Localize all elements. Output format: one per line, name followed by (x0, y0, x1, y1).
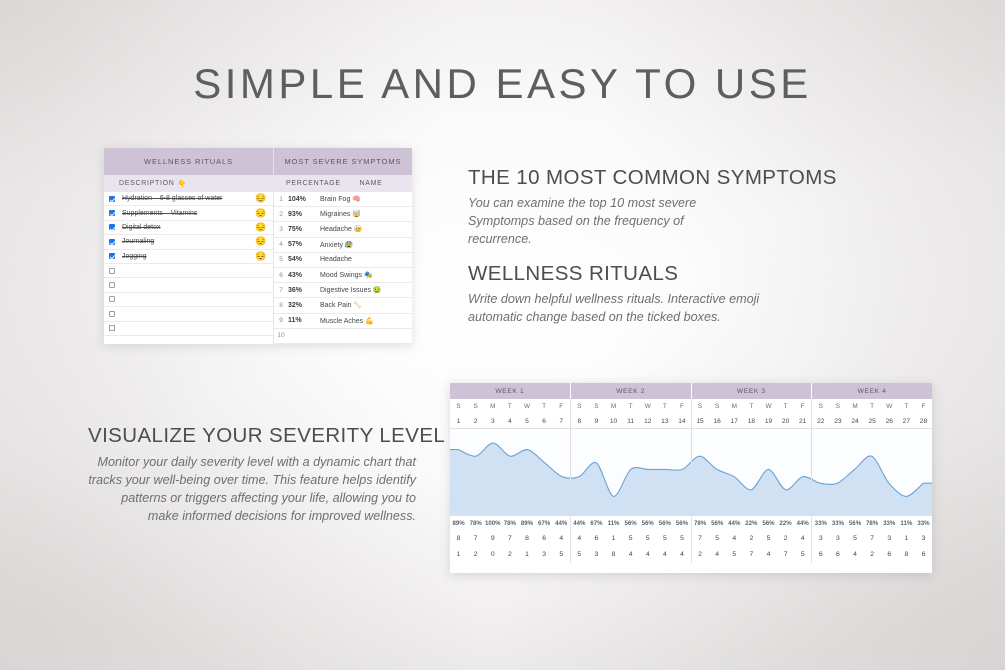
day-of-week-cell: S (829, 399, 846, 414)
week-column: 78%56%44%22%56%22%44% (692, 516, 813, 531)
rituals-body: Write down helpful wellness rituals. Int… (468, 291, 768, 327)
row-index: 10 (274, 332, 288, 339)
severity-area-chart (450, 429, 932, 515)
severity-percent-cell: 22% (777, 516, 794, 531)
name-column-label: NAME (336, 180, 412, 187)
row-index: 7 (274, 287, 288, 294)
week-column: 44%67%11%56%56%56%56% (571, 516, 692, 531)
value-cell-a: 4 (553, 531, 570, 547)
value-cell-a: 1 (898, 531, 915, 547)
checkbox-cell[interactable] (104, 224, 119, 230)
week-column: 891011121314 (571, 414, 692, 428)
day-of-month-cell: 26 (881, 414, 898, 428)
value-cell-b: 4 (709, 547, 726, 563)
table-row[interactable]: 736%Digestive Issues 🤢 (274, 283, 412, 298)
week-column: 5384444 (571, 547, 692, 563)
value-cell-a: 4 (571, 531, 588, 547)
checkbox-unchecked-icon[interactable] (109, 282, 115, 288)
day-of-week-cell: T (501, 399, 518, 414)
week-column: 3357313 (812, 531, 932, 547)
mood-emoji-icon: 😔 (249, 252, 273, 261)
symptom-percentage: 11% (288, 317, 318, 324)
severity-percent-cell: 78% (501, 516, 518, 531)
wellness-rituals-rows: Hydration – 6-8 glasses of water😔Supplem… (104, 192, 273, 336)
day-of-month-cell: 15 (692, 414, 709, 428)
checkbox-unchecked-icon[interactable] (109, 268, 115, 274)
value-cell-a: 3 (915, 531, 932, 547)
symptom-percentage: 57% (288, 241, 318, 248)
value-cell-b: 4 (760, 547, 777, 563)
value-cell-b: 5 (553, 547, 570, 563)
day-of-week-cell: M (484, 399, 501, 414)
checkbox-unchecked-icon[interactable] (109, 296, 115, 302)
checkbox-checked-icon[interactable] (109, 253, 115, 259)
mood-emoji-icon: 😔 (249, 209, 273, 218)
value-cell-b: 4 (656, 547, 673, 563)
day-of-month-cell: 14 (673, 414, 690, 428)
day-of-month-cell: 27 (898, 414, 915, 428)
symptoms-heading: THE 10 MOST COMMON SYMPTOMS (468, 166, 837, 190)
week-column: 8797864 (450, 531, 571, 547)
day-of-week-cell: F (673, 399, 690, 414)
week-label: WEEK 2 (571, 383, 692, 399)
checkbox-checked-icon[interactable] (109, 210, 115, 216)
symptom-name: Migraines 🤯 (318, 210, 412, 218)
day-of-week-cell: M (726, 399, 743, 414)
severity-percent-cell: 78% (692, 516, 709, 531)
chart-value-row-b: 1202135538444424574756642686 (450, 547, 932, 563)
severity-percent-cell: 67% (588, 516, 605, 531)
day-of-week-cell: T (864, 399, 881, 414)
table-row[interactable]: 457%Anxiety 😰 (274, 238, 412, 253)
text-block-severity: VISUALIZE YOUR SEVERITY LEVEL Monitor yo… (88, 424, 416, 526)
severity-percent-cell: 56% (622, 516, 639, 531)
day-of-week-cell: M (605, 399, 622, 414)
severity-percent-cell: 78% (864, 516, 881, 531)
day-of-month-cell: 21 (794, 414, 811, 428)
value-cell-b: 6 (829, 547, 846, 563)
most-severe-symptoms-title: MOST SEVERE SYMPTOMS (274, 148, 412, 175)
day-of-week-cell: T (536, 399, 553, 414)
day-of-week-cell: W (881, 399, 898, 414)
severity-percent-cell: 11% (898, 516, 915, 531)
value-cell-a: 7 (692, 531, 709, 547)
value-cell-b: 5 (571, 547, 588, 563)
row-index: 3 (274, 226, 288, 233)
day-of-month-cell: 20 (777, 414, 794, 428)
symptom-percentage: 54% (288, 256, 318, 263)
day-of-week-cell: T (622, 399, 639, 414)
table-row[interactable]: 1104%Brain Fog 🧠 (274, 192, 412, 207)
value-cell-a: 8 (518, 531, 535, 547)
value-cell-b: 2 (864, 547, 881, 563)
ritual-label[interactable]: Journaling (119, 238, 249, 245)
value-cell-b: 6 (881, 547, 898, 563)
ritual-label[interactable]: Hydration – 6-8 glasses of water (119, 195, 249, 202)
chart-week-header: WEEK 1WEEK 2WEEK 3WEEK 4 (450, 383, 932, 399)
value-cell-a: 6 (588, 531, 605, 547)
severity-percent-cell: 100% (484, 516, 501, 531)
severity-percent-cell: 33% (812, 516, 829, 531)
checkbox-checked-icon[interactable] (109, 196, 115, 202)
table-row[interactable] (104, 293, 273, 307)
symptom-percentage: 93% (288, 211, 318, 218)
symptom-percentage: 104% (288, 196, 318, 203)
checkbox-cell[interactable] (104, 296, 119, 302)
severity-percent-cell: 67% (536, 516, 553, 531)
day-of-month-cell: 7 (553, 414, 570, 428)
day-of-month-cell: 24 (846, 414, 863, 428)
severity-percent-cell: 11% (605, 516, 622, 531)
table-row[interactable]: Journaling😔 (104, 235, 273, 249)
severity-percent-cell: 44% (571, 516, 588, 531)
value-cell-a: 3 (829, 531, 846, 547)
severity-percent-cell: 44% (726, 516, 743, 531)
value-cell-b: 4 (673, 547, 690, 563)
symptom-percentage: 36% (288, 287, 318, 294)
day-of-week-cell: W (518, 399, 535, 414)
value-cell-a: 9 (484, 531, 501, 547)
page-title: SIMPLE AND EASY TO USE (0, 60, 1005, 108)
value-cell-a: 5 (639, 531, 656, 547)
checkbox-cell[interactable] (104, 282, 119, 288)
day-of-week-cell: T (656, 399, 673, 414)
week-label: WEEK 4 (812, 383, 932, 399)
chart-plot-area (450, 429, 932, 515)
value-cell-a: 7 (501, 531, 518, 547)
day-of-week-cell: W (760, 399, 777, 414)
symptom-name: Headache 🤕 (318, 225, 412, 233)
value-cell-a: 1 (605, 531, 622, 547)
symptom-name: Digestive Issues 🤢 (318, 286, 412, 294)
severity-percent-cell: 56% (673, 516, 690, 531)
severity-heading: VISUALIZE YOUR SEVERITY LEVEL (88, 424, 416, 448)
value-cell-a: 5 (846, 531, 863, 547)
value-cell-a: 2 (743, 531, 760, 547)
row-index: 8 (274, 302, 288, 309)
day-of-month-cell: 19 (760, 414, 777, 428)
value-cell-b: 4 (639, 547, 656, 563)
week-label: WEEK 1 (450, 383, 571, 399)
symptoms-rows: 1104%Brain Fog 🧠293%Migraines 🤯375%Heada… (274, 192, 412, 344)
tables-screenshot-card: WELLNESS RITUALS DESCRIPTION 👇 Hydration… (104, 148, 412, 344)
day-of-week-cell: T (898, 399, 915, 414)
checkbox-cell[interactable] (104, 268, 119, 274)
week-column: 15161718192021 (692, 414, 813, 428)
percentage-column-label: PERCENTAGE (274, 180, 336, 187)
severity-chart-card: WEEK 1WEEK 2WEEK 3WEEK 4 SSMTWTFSSMTWTFS… (450, 383, 932, 573)
most-severe-symptoms-table: MOST SEVERE SYMPTOMS PERCENTAGE NAME 110… (274, 148, 412, 344)
value-cell-a: 7 (864, 531, 881, 547)
symptom-percentage: 32% (288, 302, 318, 309)
value-cell-b: 8 (605, 547, 622, 563)
value-cell-b: 1 (518, 547, 535, 563)
row-index: 9 (274, 317, 288, 324)
row-index: 4 (274, 241, 288, 248)
day-of-week-cell: M (846, 399, 863, 414)
checkbox-cell[interactable] (104, 239, 119, 245)
ritual-label[interactable]: Digital detox (119, 224, 249, 231)
value-cell-a: 7 (467, 531, 484, 547)
table-row[interactable]: 832%Back Pain 🦴 (274, 298, 412, 313)
value-cell-b: 6 (915, 547, 932, 563)
day-of-week-cell: S (692, 399, 709, 414)
day-of-month-cell: 22 (812, 414, 829, 428)
table-row[interactable]: 293%Migraines 🤯 (274, 207, 412, 222)
week-column: 33%33%56%78%33%11%33% (812, 516, 932, 531)
day-of-month-cell: 25 (864, 414, 881, 428)
day-of-month-cell: 2 (467, 414, 484, 428)
checkbox-cell[interactable] (104, 196, 119, 202)
chart-value-row-a: 8797864461555575425243357313 (450, 531, 932, 547)
value-cell-b: 7 (743, 547, 760, 563)
severity-percent-cell: 56% (639, 516, 656, 531)
table-row[interactable]: Jogging😔 (104, 250, 273, 264)
day-of-week-cell: S (709, 399, 726, 414)
wellness-rituals-table: WELLNESS RITUALS DESCRIPTION 👇 Hydration… (104, 148, 274, 344)
day-of-month-cell: 10 (605, 414, 622, 428)
severity-percent-cell: 56% (760, 516, 777, 531)
day-of-month-cell: 18 (743, 414, 760, 428)
symptom-percentage: 75% (288, 226, 318, 233)
day-of-week-cell: W (639, 399, 656, 414)
wellness-rituals-title: WELLNESS RITUALS (104, 148, 273, 175)
text-block-top-symptoms: THE 10 MOST COMMON SYMPTOMS You can exam… (468, 166, 837, 249)
day-of-week-cell: S (467, 399, 484, 414)
symptom-name: Muscle Aches 💪 (318, 317, 412, 325)
checkbox-unchecked-icon[interactable] (109, 325, 115, 331)
symptom-name: Brain Fog 🧠 (318, 195, 412, 203)
row-index: 5 (274, 256, 288, 263)
severity-percent-cell: 89% (450, 516, 467, 531)
value-cell-b: 4 (622, 547, 639, 563)
week-column: SSMTWTF (812, 399, 932, 414)
value-cell-a: 6 (536, 531, 553, 547)
value-cell-b: 8 (898, 547, 915, 563)
severity-percent-cell: 78% (467, 516, 484, 531)
value-cell-b: 1 (450, 547, 467, 563)
week-column: SSMTWTF (571, 399, 692, 414)
mood-emoji-icon: 😔 (249, 194, 273, 203)
mood-emoji-icon: 😔 (249, 223, 273, 232)
value-cell-a: 3 (812, 531, 829, 547)
table-row[interactable]: 375%Headache 🤕 (274, 222, 412, 237)
day-of-month-cell: 8 (571, 414, 588, 428)
table-row[interactable] (104, 322, 273, 336)
day-of-month-cell: 11 (622, 414, 639, 428)
week-column: 22232425262728 (812, 414, 932, 428)
value-cell-b: 5 (794, 547, 811, 563)
checkbox-cell[interactable] (104, 253, 119, 259)
value-cell-b: 5 (726, 547, 743, 563)
week-column: 7542524 (692, 531, 813, 547)
day-of-month-cell: 3 (484, 414, 501, 428)
week-column: 1202135 (450, 547, 571, 563)
symptoms-column-headers: PERCENTAGE NAME (274, 175, 412, 192)
week-column: 6642686 (812, 547, 932, 563)
row-index: 6 (274, 272, 288, 279)
chart-day-of-week-row: SSMTWTFSSMTWTFSSMTWTFSSMTWTF (450, 399, 932, 414)
day-of-month-cell: 9 (588, 414, 605, 428)
week-column: 1234567 (450, 414, 571, 428)
day-of-week-cell: S (812, 399, 829, 414)
checkbox-cell[interactable] (104, 210, 119, 216)
rituals-heading: WELLNESS RITUALS (468, 262, 768, 286)
day-of-month-cell: 5 (518, 414, 535, 428)
checkbox-unchecked-icon[interactable] (109, 311, 115, 317)
day-of-month-cell: 6 (536, 414, 553, 428)
week-column: 2457475 (692, 547, 813, 563)
value-cell-b: 0 (484, 547, 501, 563)
checkbox-cell[interactable] (104, 325, 119, 331)
checkbox-cell[interactable] (104, 311, 119, 317)
severity-percent-cell: 33% (829, 516, 846, 531)
severity-percent-cell: 56% (709, 516, 726, 531)
severity-percent-cell: 89% (518, 516, 535, 531)
table-row[interactable]: Digital detox😔 (104, 221, 273, 235)
value-cell-b: 2 (692, 547, 709, 563)
chart-percentage-row: 89%78%100%78%89%67%44%44%67%11%56%56%56%… (450, 515, 932, 531)
symptom-name: Mood Swings 🎭 (318, 271, 412, 279)
table-row[interactable]: 911%Muscle Aches 💪 (274, 314, 412, 329)
day-of-month-cell: 13 (656, 414, 673, 428)
table-row[interactable]: 10 (274, 329, 412, 344)
table-row[interactable]: 554%Headache (274, 253, 412, 268)
row-index: 1 (274, 196, 288, 203)
day-of-month-cell: 17 (726, 414, 743, 428)
day-of-week-cell: F (553, 399, 570, 414)
severity-percent-cell: 56% (656, 516, 673, 531)
severity-percent-cell: 33% (915, 516, 932, 531)
value-cell-b: 3 (536, 547, 553, 563)
symptom-name: Anxiety 😰 (318, 241, 412, 249)
severity-percent-cell: 44% (553, 516, 570, 531)
text-block-wellness-rituals: WELLNESS RITUALS Write down helpful well… (468, 262, 768, 327)
ritual-label[interactable]: Jogging (119, 253, 249, 260)
value-cell-a: 5 (656, 531, 673, 547)
value-cell-b: 6 (812, 547, 829, 563)
chart-day-of-month-row: 1234567891011121314151617181920212223242… (450, 414, 932, 429)
value-cell-b: 2 (467, 547, 484, 563)
value-cell-a: 2 (777, 531, 794, 547)
symptom-percentage: 43% (288, 272, 318, 279)
severity-percent-cell: 22% (743, 516, 760, 531)
row-index: 2 (274, 211, 288, 218)
value-cell-b: 3 (588, 547, 605, 563)
value-cell-b: 2 (501, 547, 518, 563)
week-column: SSMTWTF (692, 399, 813, 414)
value-cell-a: 4 (726, 531, 743, 547)
severity-body: Monitor your daily severity level with a… (88, 454, 416, 526)
day-of-week-cell: S (450, 399, 467, 414)
checkbox-checked-icon[interactable] (109, 239, 115, 245)
day-of-month-cell: 23 (829, 414, 846, 428)
table-row[interactable] (104, 307, 273, 321)
week-column: 4615555 (571, 531, 692, 547)
value-cell-a: 5 (622, 531, 639, 547)
table-row[interactable] (104, 278, 273, 292)
day-of-month-cell: 4 (501, 414, 518, 428)
wellness-rituals-column-header: DESCRIPTION 👇 (104, 175, 273, 192)
severity-percent-cell: 33% (881, 516, 898, 531)
value-cell-b: 4 (846, 547, 863, 563)
day-of-week-cell: S (588, 399, 605, 414)
ritual-label[interactable]: Supplements – Vitamins (119, 210, 249, 217)
day-of-month-cell: 28 (915, 414, 932, 428)
day-of-week-cell: T (777, 399, 794, 414)
symptoms-body: You can examine the top 10 most severe S… (468, 195, 748, 249)
severity-percent-cell: 44% (794, 516, 811, 531)
table-row[interactable]: Hydration – 6-8 glasses of water😔 (104, 192, 273, 206)
day-of-week-cell: T (743, 399, 760, 414)
symptom-name: Headache (318, 256, 412, 263)
day-of-month-cell: 16 (709, 414, 726, 428)
checkbox-checked-icon[interactable] (109, 224, 115, 230)
week-label: WEEK 3 (692, 383, 813, 399)
day-of-week-cell: F (794, 399, 811, 414)
week-column: 89%78%100%78%89%67%44% (450, 516, 571, 531)
value-cell-a: 3 (881, 531, 898, 547)
severity-percent-cell: 56% (846, 516, 863, 531)
day-of-month-cell: 12 (639, 414, 656, 428)
symptom-name: Back Pain 🦴 (318, 301, 412, 309)
pointing-down-icon: 👇 (175, 180, 187, 188)
value-cell-a: 4 (794, 531, 811, 547)
value-cell-a: 5 (709, 531, 726, 547)
value-cell-a: 5 (673, 531, 690, 547)
day-of-month-cell: 1 (450, 414, 467, 428)
description-column-label: DESCRIPTION (104, 180, 175, 187)
table-row[interactable]: Supplements – Vitamins😔 (104, 206, 273, 220)
value-cell-a: 8 (450, 531, 467, 547)
table-row[interactable] (104, 264, 273, 278)
week-column: SSMTWTF (450, 399, 571, 414)
value-cell-a: 5 (760, 531, 777, 547)
day-of-week-cell: F (915, 399, 932, 414)
value-cell-b: 7 (777, 547, 794, 563)
day-of-week-cell: S (571, 399, 588, 414)
mood-emoji-icon: 😔 (249, 237, 273, 246)
table-row[interactable]: 643%Mood Swings 🎭 (274, 268, 412, 283)
